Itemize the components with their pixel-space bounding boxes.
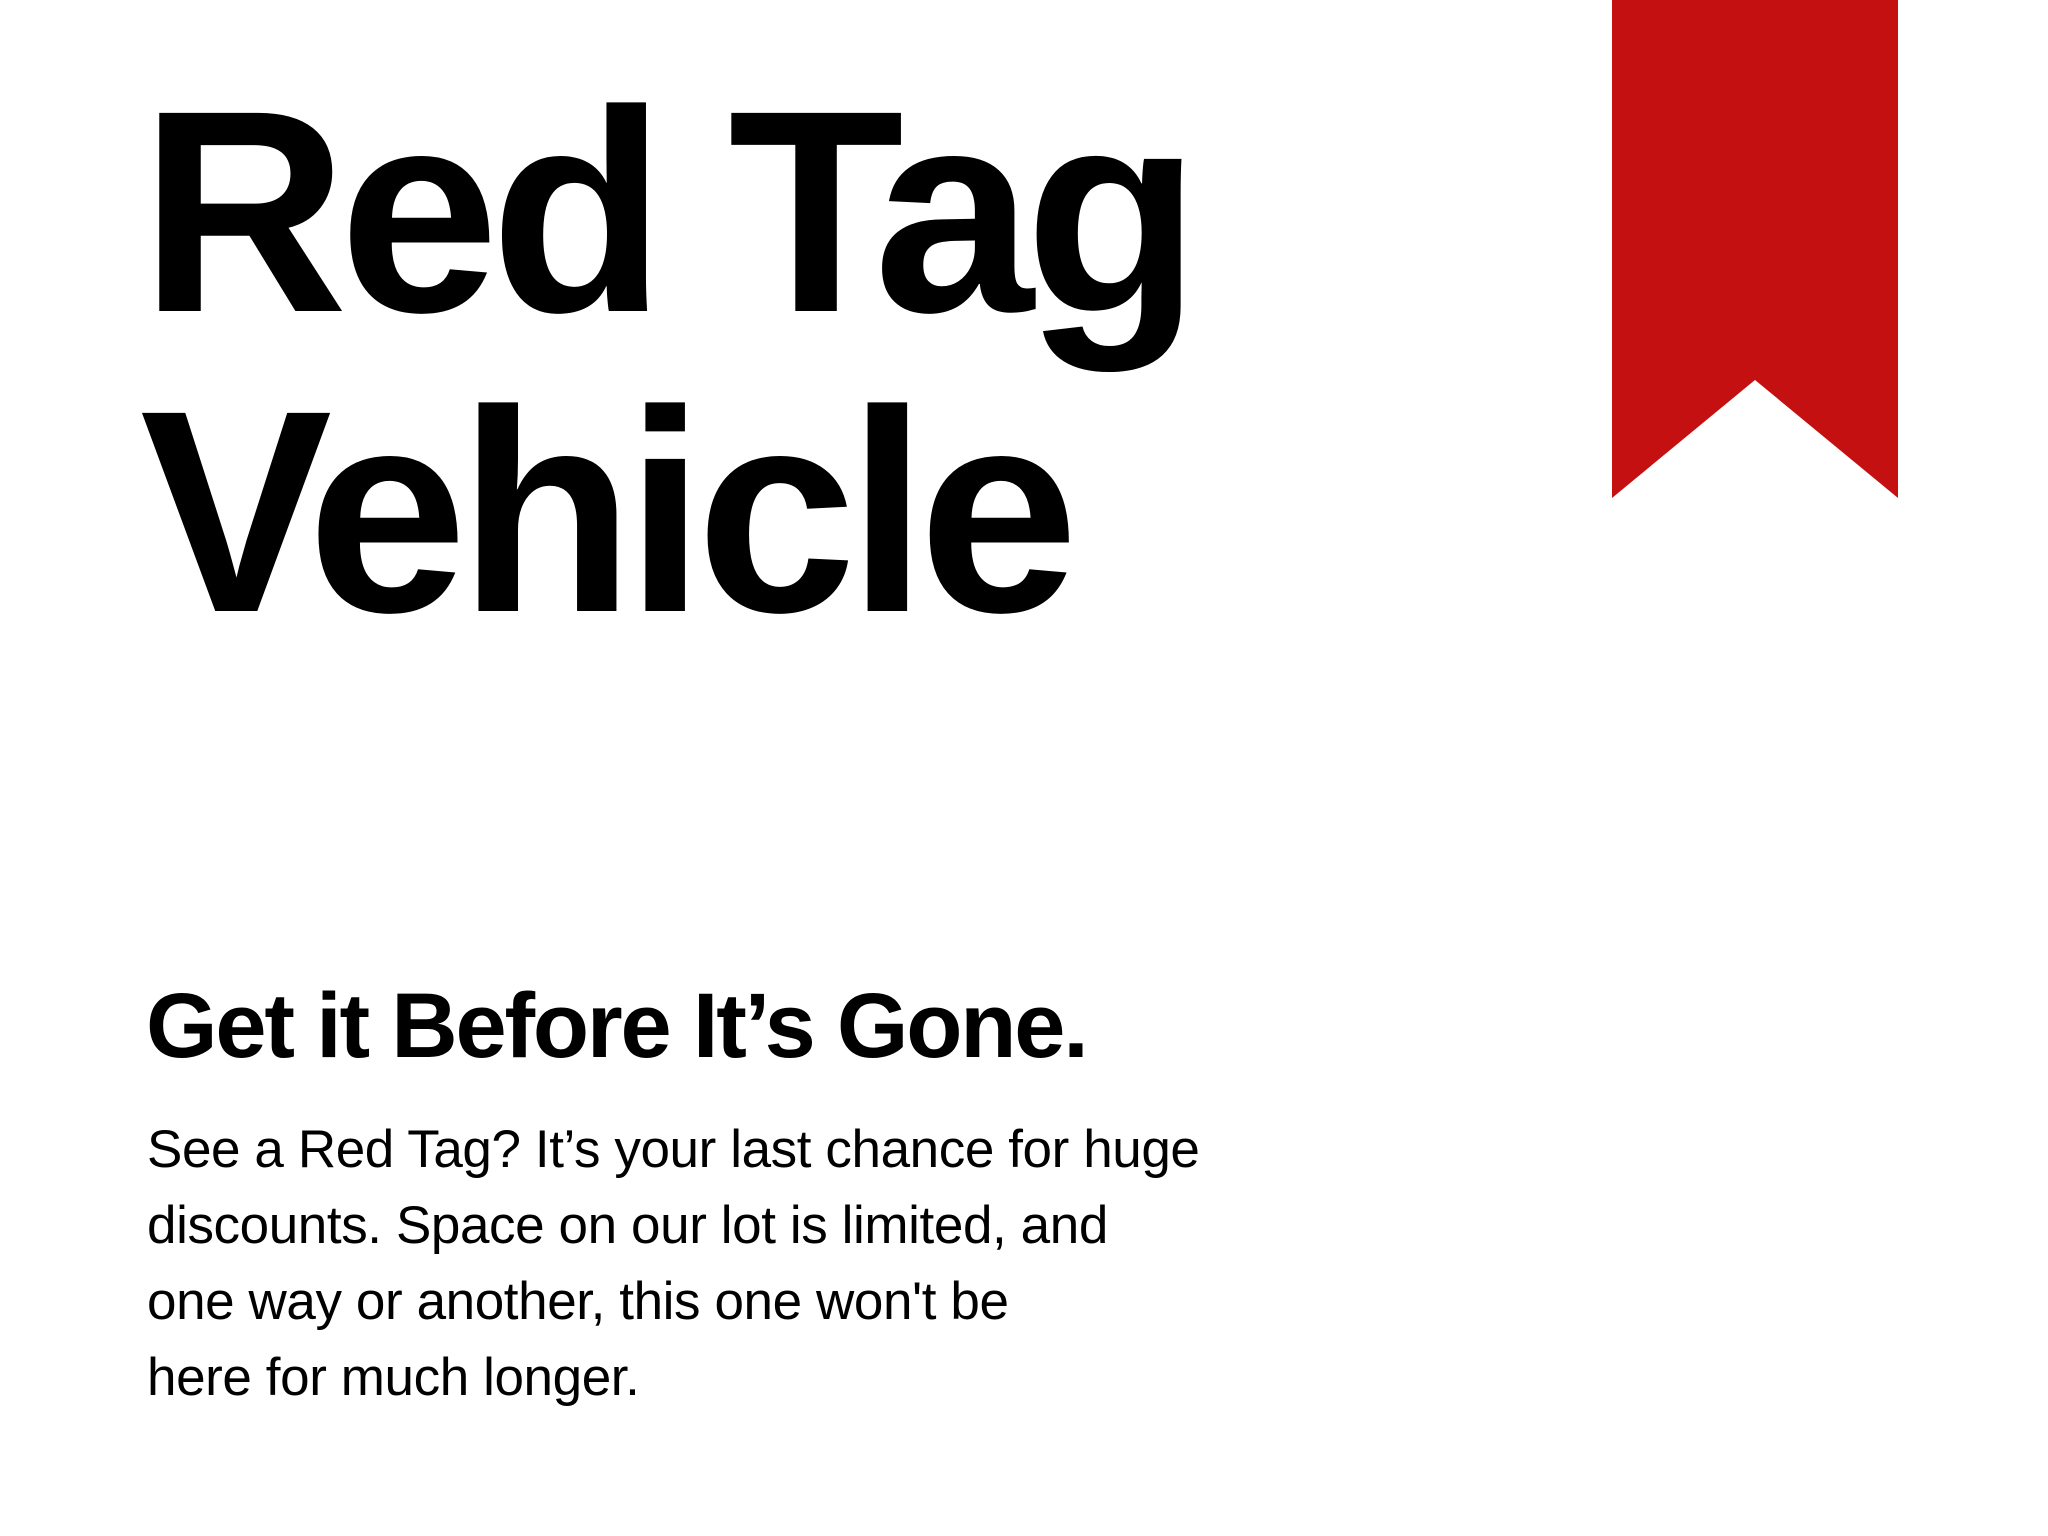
red-tag-ribbon-icon	[1612, 0, 1898, 498]
promo-canvas: Red Tag Vehicle Get it Before It’s Gone.…	[0, 0, 2048, 1536]
body-line: one way or another, this one won't be	[147, 1264, 1200, 1340]
body-line: See a Red Tag? It’s your last chance for…	[147, 1112, 1200, 1188]
body-paragraph: See a Red Tag? It’s your last chance for…	[147, 1112, 1200, 1416]
body-line: discounts. Space on our lot is limited, …	[147, 1188, 1200, 1264]
body-line: here for much longer.	[147, 1340, 1200, 1416]
page-title: Red Tag Vehicle	[140, 62, 1560, 662]
subheading: Get it Before It’s Gone.	[146, 976, 1087, 1076]
